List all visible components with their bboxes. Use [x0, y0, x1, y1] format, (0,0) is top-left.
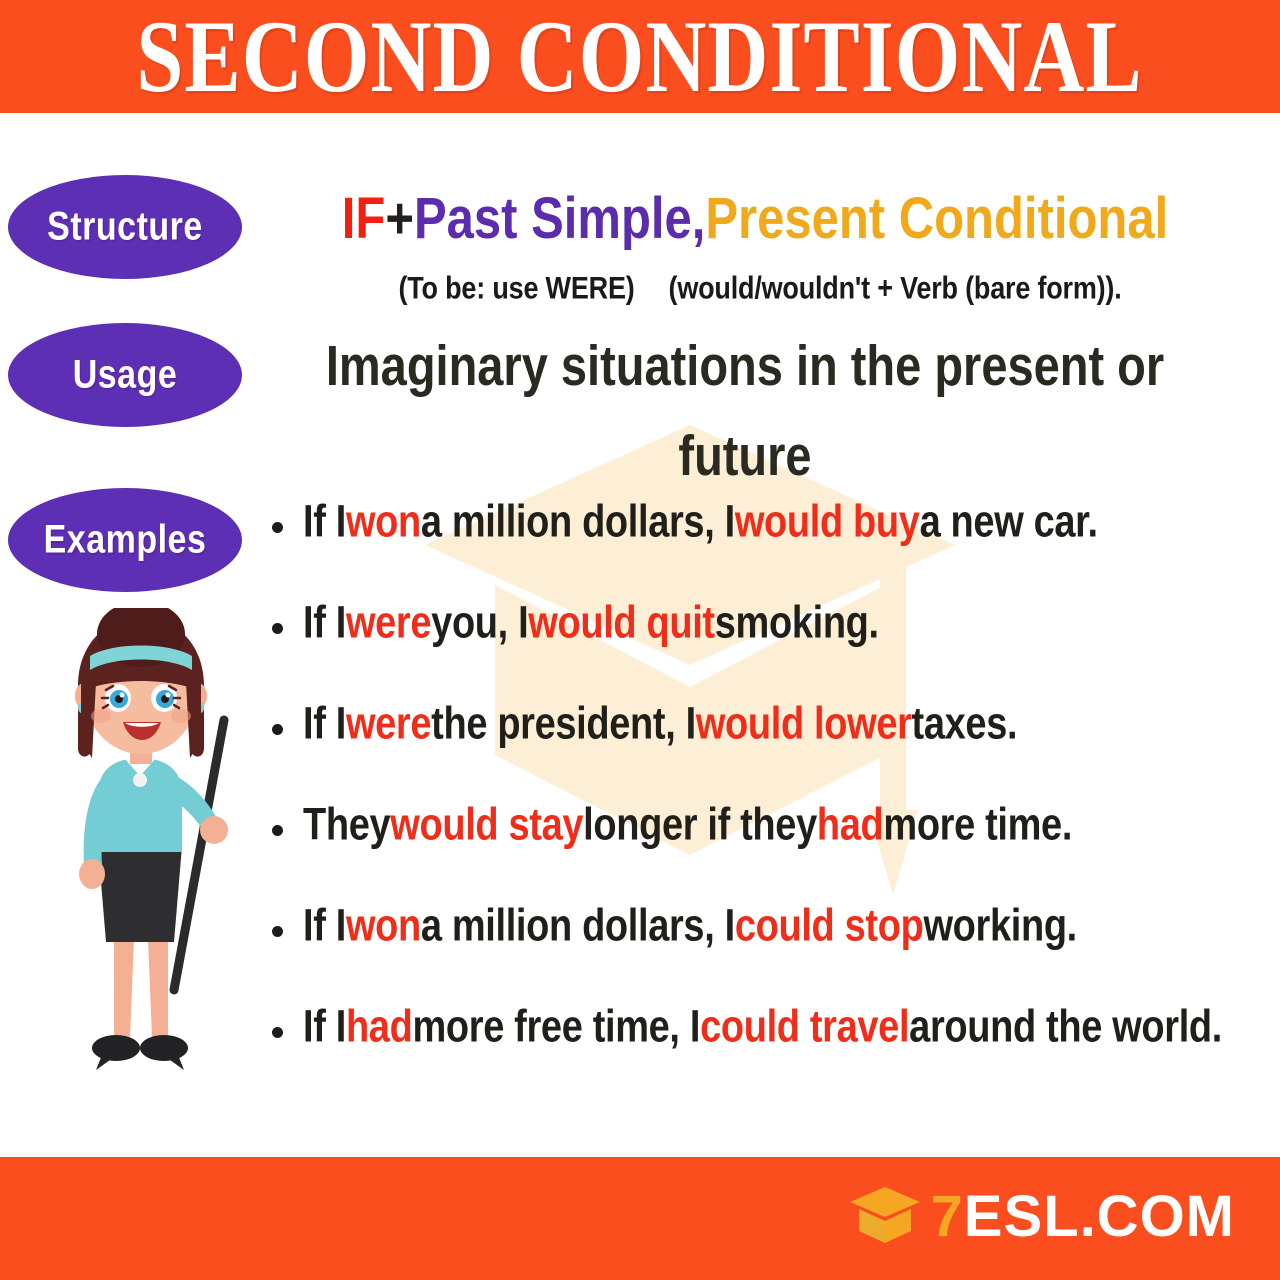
example-plain: If I [303, 1004, 346, 1050]
site-logo[interactable]: 7ESL.COM [849, 1185, 1236, 1249]
structure-notes: (To be: use WERE)(would/wouldn't + Verb … [255, 273, 1265, 304]
graduation-cap-icon [849, 1185, 921, 1249]
content-area: Structure IF+ Past Simple, Present Condi… [0, 113, 1280, 1157]
example-plain: a million dollars, I [421, 903, 735, 949]
example-item: If I won a million dollars, I could stop… [272, 907, 1280, 1008]
header-bar: SECOND CONDITIONAL [0, 0, 1280, 113]
example-highlight: had [346, 1004, 413, 1050]
formula-plus: + [385, 190, 414, 249]
example-highlight: would quit [528, 600, 714, 646]
example-plain: more free time, I [412, 1004, 700, 1050]
bullet-icon [272, 926, 283, 937]
example-plain: working. [923, 903, 1076, 949]
example-text: If I had more free time, I could travel … [303, 1008, 1222, 1046]
teacher-illustration [18, 608, 268, 1088]
label-structure: Structure [8, 175, 242, 279]
bullet-icon [272, 623, 283, 634]
bullet-icon [272, 825, 283, 836]
example-plain: a million dollars, I [421, 499, 735, 545]
logo-text: 7ESL.COM [931, 1188, 1236, 1246]
example-plain: the president, I [431, 701, 696, 747]
example-item: If I had more free time, I could travel … [272, 1008, 1280, 1109]
example-plain: If I [303, 701, 346, 747]
example-item: If I won a million dollars, I would buy … [272, 503, 1280, 604]
note-to-be: (To be: use WERE) [398, 270, 634, 307]
logo-rest: ESL.COM [964, 1184, 1235, 1249]
note-would: (would/wouldn't + Verb (bare form)). [669, 270, 1122, 307]
example-plain: around the world. [909, 1004, 1222, 1050]
example-item: If I were the president, I would lower t… [272, 705, 1280, 806]
example-highlight: could travel [700, 1004, 909, 1050]
example-plain: longer if they [583, 802, 817, 848]
example-plain: a new car. [920, 499, 1098, 545]
page-title: SECOND CONDITIONAL [137, 5, 1143, 108]
example-plain: They [303, 802, 390, 848]
label-usage: Usage [8, 323, 242, 427]
example-highlight: had [817, 802, 884, 848]
example-highlight: would buy [735, 499, 920, 545]
bullet-icon [272, 522, 283, 533]
example-plain: If I [303, 499, 346, 545]
example-item: They would stay longer if they had more … [272, 806, 1280, 907]
formula-if: IF [342, 190, 386, 249]
footer-bar: 7ESL.COM [0, 1157, 1280, 1280]
example-plain: smoking. [715, 600, 879, 646]
label-examples: Examples [8, 488, 242, 592]
example-highlight: could stop [735, 903, 924, 949]
example-text: If I won a million dollars, I would buy … [303, 503, 1098, 541]
example-plain: taxes. [912, 701, 1018, 747]
examples-list: If I won a million dollars, I would buy … [272, 503, 1280, 1109]
example-highlight: would lower [696, 701, 912, 747]
bullet-icon [272, 1027, 283, 1038]
example-plain: more time. [883, 802, 1072, 848]
formula-past-simple: Past Simple, [414, 190, 705, 249]
example-item: If I were you, I would quit smoking. [272, 604, 1280, 705]
bullet-icon [272, 724, 283, 735]
example-plain: If I [303, 600, 346, 646]
formula-present-conditional: Present Conditional [705, 190, 1168, 249]
example-highlight: would stay [390, 802, 583, 848]
example-highlight: were [346, 600, 431, 646]
label-usage-text: Usage [73, 352, 178, 397]
label-structure-text: Structure [47, 204, 203, 249]
example-text: If I won a million dollars, I could stop… [303, 907, 1077, 945]
example-highlight: were [346, 701, 431, 747]
logo-seven: 7 [931, 1184, 964, 1249]
usage-description-text: Imaginary situations in the present or f… [300, 320, 1190, 500]
label-examples-text: Examples [44, 517, 207, 562]
example-text: If I were you, I would quit smoking. [303, 604, 879, 642]
example-highlight: won [346, 499, 421, 545]
example-highlight: won [346, 903, 421, 949]
example-text: If I were the president, I would lower t… [303, 705, 1017, 743]
example-text: They would stay longer if they had more … [303, 806, 1072, 844]
example-plain: you, I [431, 600, 528, 646]
example-plain: If I [303, 903, 346, 949]
structure-formula: IF+ Past Simple, Present Conditional [255, 195, 1255, 244]
usage-description: Imaginary situations in the present or f… [300, 335, 1190, 485]
